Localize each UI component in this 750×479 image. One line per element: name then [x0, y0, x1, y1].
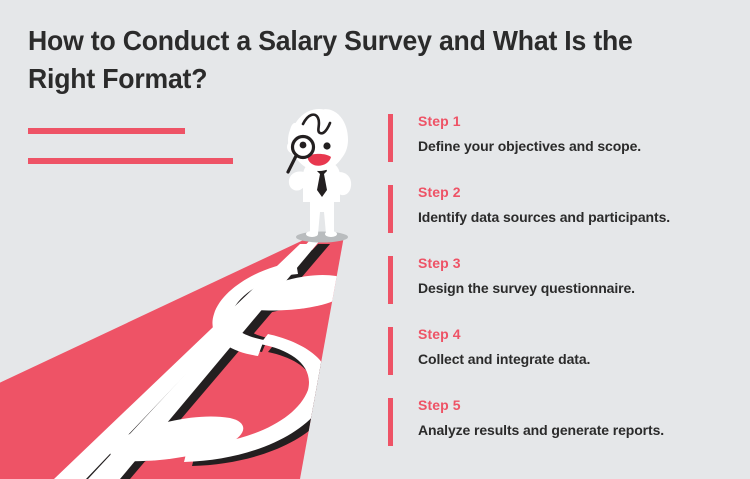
magnifying-glass-handle: [288, 156, 296, 172]
step-item-1[interactable]: Step 1 Define your objectives and scope.: [388, 112, 738, 162]
character-shoe-left: [306, 231, 318, 237]
character-legs: [310, 198, 334, 234]
character-figure: [287, 109, 351, 237]
character-arm-left: [289, 171, 306, 190]
step-description: Identify data sources and participants.: [418, 208, 738, 226]
character-shoe-right: [325, 231, 337, 237]
step-item-5[interactable]: Step 5 Analyze results and generate repo…: [388, 396, 738, 446]
step-description: Collect and integrate data.: [418, 350, 738, 368]
step-label: Step 3: [418, 254, 738, 272]
character-platform: [296, 232, 348, 243]
steps-list: Step 1 Define your objectives and scope.…: [388, 112, 738, 446]
step-accent-bar: [388, 185, 393, 233]
step-description: Design the survey questionnaire.: [418, 279, 738, 297]
step-label: Step 2: [418, 183, 738, 201]
step-label: Step 1: [418, 112, 738, 130]
character-eye-right: [323, 142, 330, 149]
step-description: Analyze results and generate reports.: [418, 421, 738, 439]
step-accent-bar: [388, 398, 393, 446]
step-accent-bar: [388, 327, 393, 375]
step-item-2[interactable]: Step 2 Identify data sources and partici…: [388, 183, 738, 233]
step-item-3[interactable]: Step 3 Design the survey questionnaire.: [388, 254, 738, 304]
dollar-road-illustration: [0, 0, 390, 479]
infographic-poster: How to Conduct a Salary Survey and What …: [0, 0, 750, 479]
step-accent-bar: [388, 256, 393, 304]
step-item-4[interactable]: Step 4 Collect and integrate data.: [388, 325, 738, 375]
character-eye-left: [300, 142, 307, 149]
step-label: Step 5: [418, 396, 738, 414]
step-description: Define your objectives and scope.: [418, 137, 738, 155]
character-arm-right: [339, 172, 351, 195]
step-label: Step 4: [418, 325, 738, 343]
step-accent-bar: [388, 114, 393, 162]
